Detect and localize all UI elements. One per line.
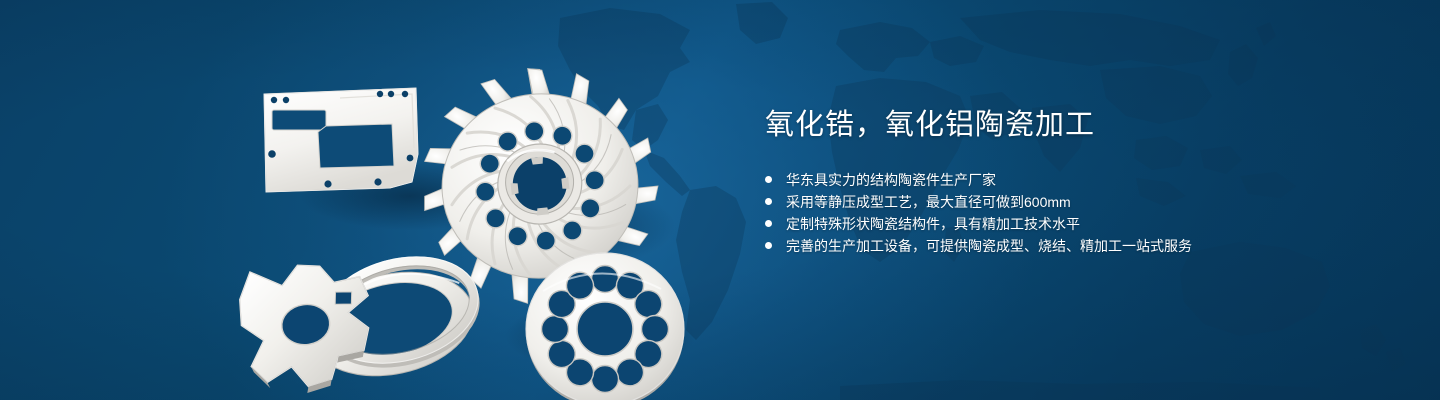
banner-text-column: 氧化锆，氧化铝陶瓷加工 华东具实力的结构陶瓷件生产厂家 采用等静压成型工艺，最大… xyxy=(765,108,1385,257)
machined-ceramic-plate xyxy=(264,88,418,192)
bullet-dot-icon xyxy=(765,198,772,205)
ceramic-processing-banner: 氧化锆，氧化铝陶瓷加工 华东具实力的结构陶瓷件生产厂家 采用等静压成型工艺，最大… xyxy=(0,0,1440,400)
list-item: 完善的生产加工设备，可提供陶瓷成型、烧结、精加工一站式服务 xyxy=(765,235,1385,257)
bullet-dot-icon xyxy=(765,242,772,249)
list-item: 定制特殊形状陶瓷结构件，具有精加工技术水平 xyxy=(765,213,1385,235)
list-item: 采用等静压成型工艺，最大直径可做到600mm xyxy=(765,191,1385,213)
ceramic-products-image xyxy=(240,36,730,386)
page-title: 氧化锆，氧化铝陶瓷加工 xyxy=(765,108,1385,143)
feature-list: 华东具实力的结构陶瓷件生产厂家 采用等静压成型工艺，最大直径可做到600mm 定… xyxy=(765,169,1385,257)
bullet-dot-icon xyxy=(765,220,772,227)
ceramic-perforated-disc xyxy=(526,253,684,400)
feature-text: 华东具实力的结构陶瓷件生产厂家 xyxy=(786,169,996,191)
feature-text: 定制特殊形状陶瓷结构件，具有精加工技术水平 xyxy=(786,213,1080,235)
ceramic-cross-plate xyxy=(234,256,381,400)
list-item: 华东具实力的结构陶瓷件生产厂家 xyxy=(765,169,1385,191)
feature-text: 采用等静压成型工艺，最大直径可做到600mm xyxy=(786,191,1071,213)
bullet-dot-icon xyxy=(765,176,772,183)
feature-text: 完善的生产加工设备，可提供陶瓷成型、烧结、精加工一站式服务 xyxy=(786,235,1192,257)
